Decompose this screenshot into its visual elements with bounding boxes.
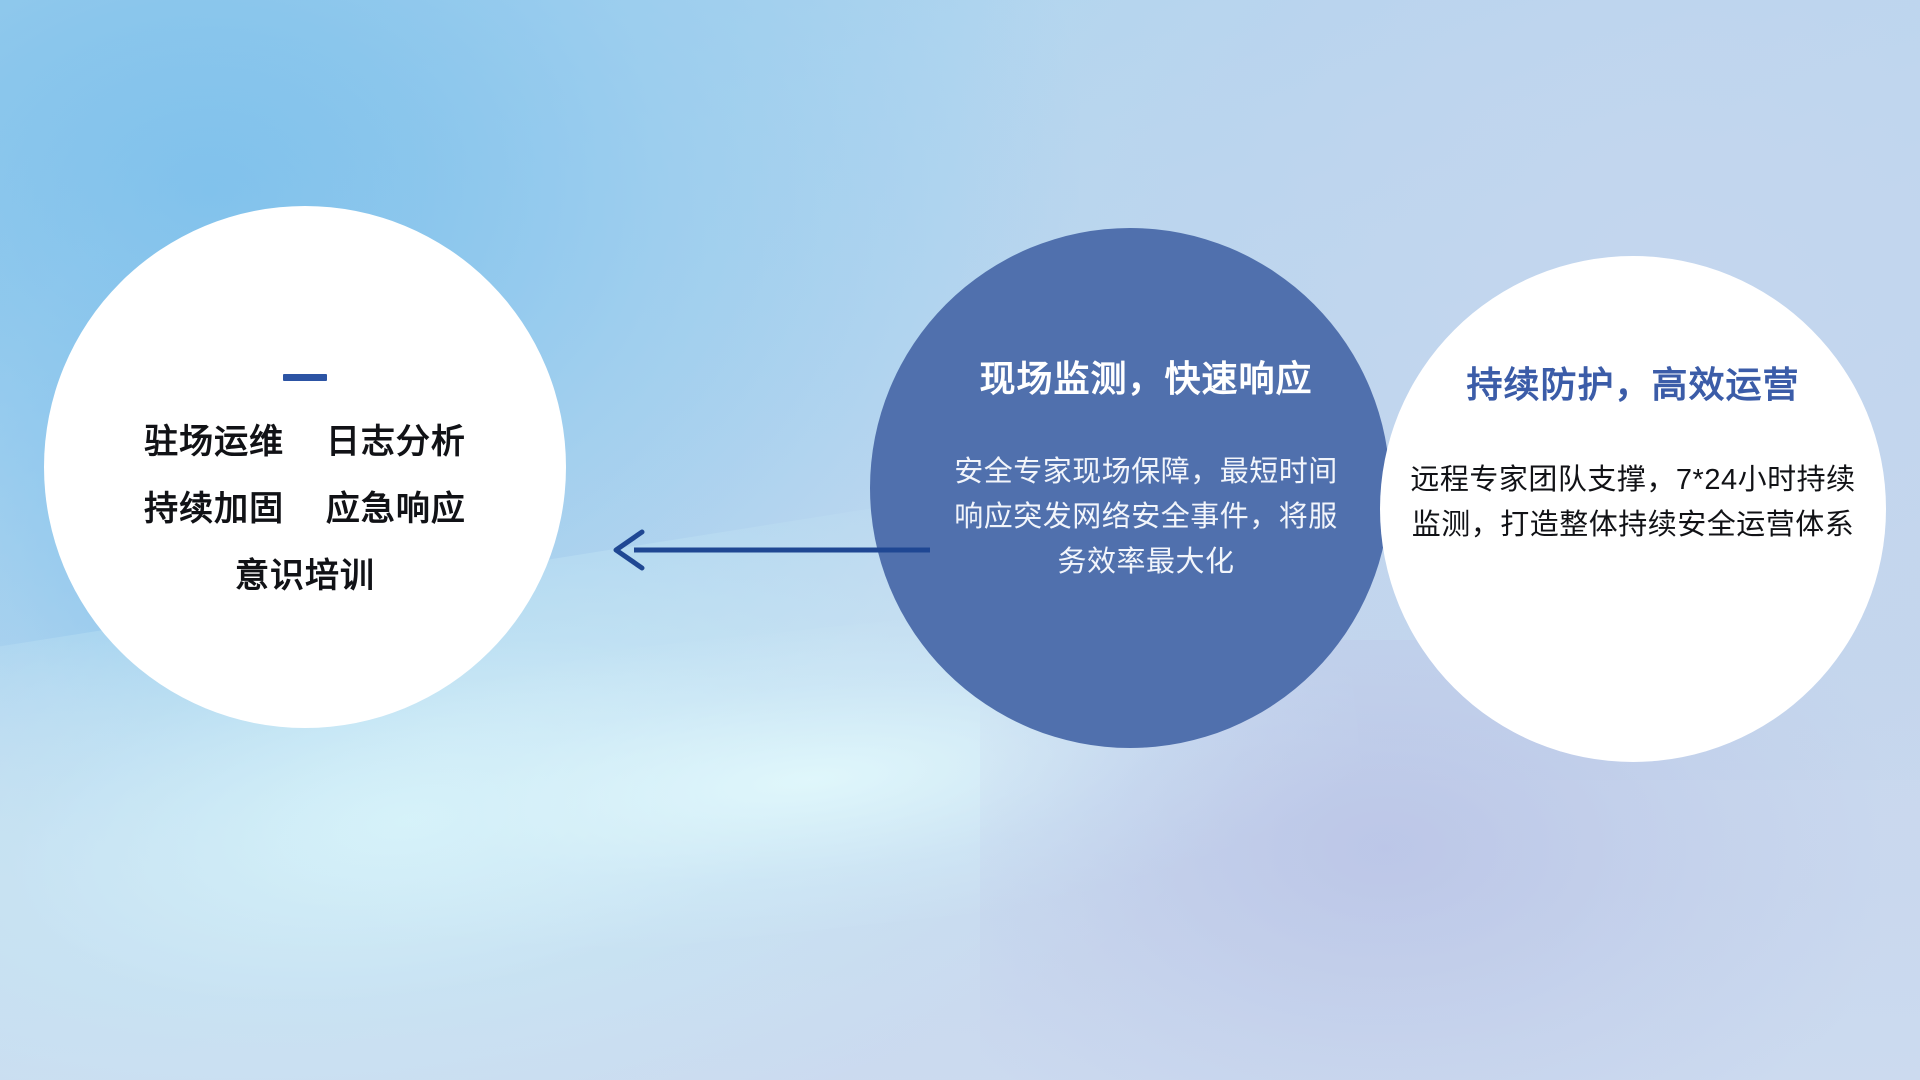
left-circle-card[interactable]: 驻场运维 日志分析 持续加固 应急响应 意识培训 [44, 206, 566, 728]
center-circle-card[interactable]: 现场监测，快速响应 安全专家现场保障，最短时间响应突发网络安全事件，将服务效率最… [870, 228, 1390, 748]
left-circle-content: 驻场运维 日志分析 持续加固 应急响应 意识培训 [44, 206, 566, 728]
list-item: 驻场运维 日志分析 [44, 425, 566, 459]
list-item: 持续加固 应急响应 [44, 492, 566, 526]
right-circle-card[interactable]: 持续防护，高效运营 远程专家团队支撑，7*24小时持续监测，打造整体持续安全运营… [1380, 256, 1886, 762]
divider-dash-icon [283, 374, 327, 381]
right-circle-content: 持续防护，高效运营 远程专家团队支撑，7*24小时持续监测，打造整体持续安全运营… [1380, 256, 1886, 762]
center-circle-body: 安全专家现场保障，最短时间响应突发网络安全事件，将服务效率最大化 [946, 450, 1346, 585]
center-circle-title: 现场监测，快速响应 [979, 350, 1312, 402]
arrow-left-icon [600, 524, 930, 576]
list-item: 意识培训 [44, 559, 566, 593]
right-circle-body: 远程专家团队支撑，7*24小时持续监测，打造整体持续安全运营体系 [1407, 458, 1859, 548]
right-circle-title: 持续防护，高效运营 [1466, 356, 1799, 408]
center-circle-content: 现场监测，快速响应 安全专家现场保障，最短时间响应突发网络安全事件，将服务效率最… [870, 228, 1390, 748]
left-circle-keyword-list: 驻场运维 日志分析 持续加固 应急响应 意识培训 [44, 425, 566, 593]
